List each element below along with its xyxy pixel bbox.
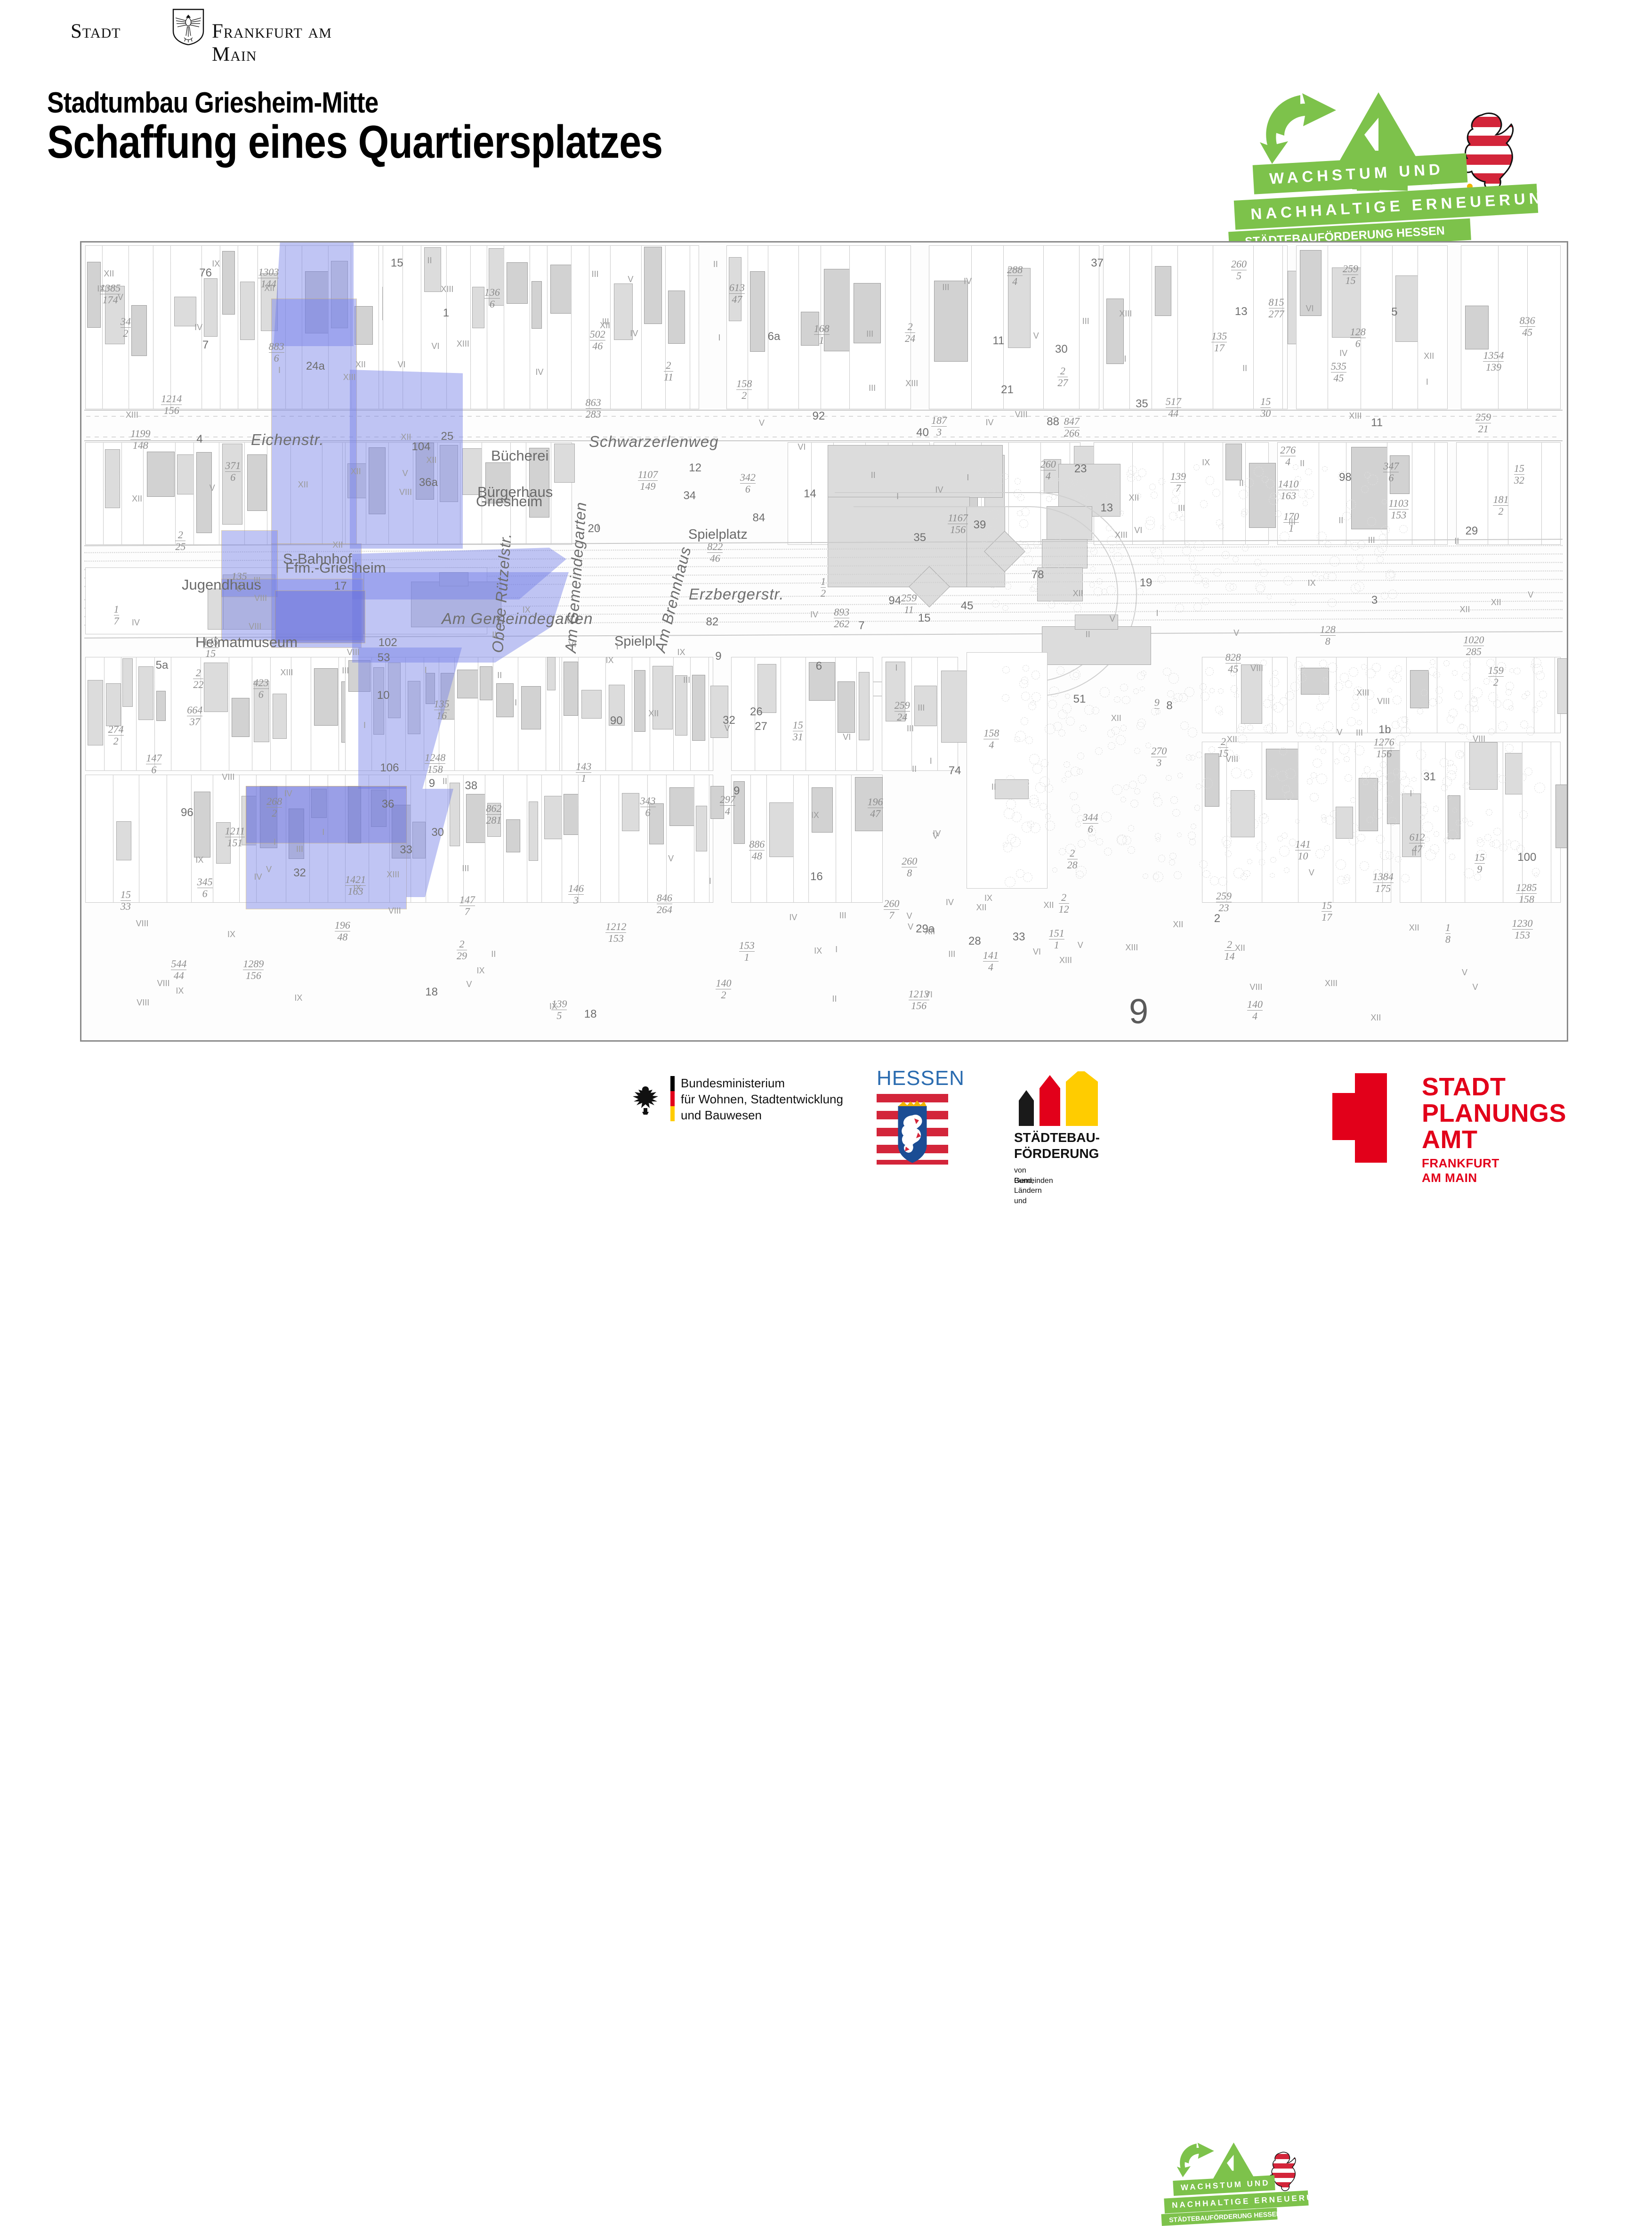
map-parcel bbox=[1541, 442, 1561, 545]
map-label: V bbox=[906, 911, 912, 921]
map-label: V bbox=[1528, 590, 1533, 600]
map-label: I bbox=[709, 876, 711, 886]
map-parcel-number: 1214156 bbox=[161, 394, 182, 416]
map-building bbox=[653, 666, 673, 729]
map-label: IX bbox=[97, 284, 105, 294]
map-tree-symbol bbox=[1128, 825, 1134, 831]
map-line bbox=[1145, 416, 1150, 417]
map-line bbox=[484, 416, 489, 417]
map-label: IX bbox=[476, 966, 484, 976]
map-tree-symbol bbox=[1388, 817, 1397, 826]
map-label: III bbox=[253, 575, 260, 585]
map-parcel-number: 862281 bbox=[486, 803, 501, 826]
map-line bbox=[213, 437, 218, 437]
map-label: I bbox=[1410, 789, 1412, 799]
map-line bbox=[561, 416, 565, 417]
map-tree-symbol bbox=[1282, 785, 1290, 793]
map-parcel-number: 1285158 bbox=[1516, 882, 1537, 905]
map-tree-symbol bbox=[1199, 860, 1208, 869]
map-tree-symbol bbox=[1230, 583, 1237, 591]
map-label: XII bbox=[1111, 713, 1121, 723]
map-tree-symbol bbox=[1143, 874, 1148, 879]
map-tree-symbol bbox=[1116, 544, 1122, 550]
map-tree-symbol bbox=[1259, 859, 1265, 865]
map-tree-symbol bbox=[1510, 841, 1519, 850]
map-line bbox=[1434, 416, 1438, 417]
map-label: IX bbox=[606, 656, 614, 665]
map-label: II bbox=[1300, 459, 1305, 469]
map-line bbox=[1493, 416, 1497, 417]
map-tree-symbol bbox=[1361, 664, 1367, 670]
map-tree-symbol bbox=[1218, 877, 1227, 886]
map-tree-symbol bbox=[1420, 802, 1426, 808]
map-label: XII bbox=[1491, 598, 1501, 607]
map-label: XII bbox=[976, 903, 986, 913]
map-parcel-number: 1533 bbox=[121, 890, 131, 912]
stadtplanungsamt-subline: FRANKFURT AM MAIN bbox=[1422, 1156, 1499, 1185]
map-label: III bbox=[296, 844, 303, 854]
map-line bbox=[730, 416, 734, 417]
map-tree-symbol bbox=[1315, 745, 1320, 750]
map-line bbox=[1239, 416, 1243, 417]
map-building bbox=[1395, 275, 1418, 341]
map-line bbox=[1323, 437, 1328, 437]
program-logo-header: WACHSTUM UND NACHHALTIGE ERNEUERUNG STÄD… bbox=[1248, 89, 1596, 231]
map-line bbox=[764, 416, 768, 417]
map-line bbox=[188, 416, 192, 417]
map-tree-symbol bbox=[1376, 835, 1385, 843]
map-label: V bbox=[628, 275, 633, 284]
map-line bbox=[1027, 437, 1031, 437]
map-tree-symbol bbox=[1059, 848, 1066, 855]
map-line bbox=[1239, 437, 1243, 437]
map-building bbox=[1555, 785, 1568, 848]
federal-eagle-icon bbox=[631, 1084, 660, 1118]
map-tree-symbol bbox=[1157, 558, 1164, 565]
map-label: III bbox=[907, 724, 914, 734]
map-label: II bbox=[443, 777, 447, 786]
map-line bbox=[120, 416, 124, 417]
map-line bbox=[840, 416, 845, 417]
map-tree-symbol bbox=[1052, 867, 1057, 873]
map-line bbox=[925, 416, 929, 417]
map-label: V bbox=[118, 292, 123, 302]
map-parcel-number: 342 bbox=[121, 316, 131, 339]
map-line bbox=[629, 416, 633, 417]
map-label: VI bbox=[843, 732, 851, 742]
map-tree-symbol bbox=[1387, 688, 1392, 693]
map-line bbox=[883, 437, 887, 437]
map-parcel-number: 1212153 bbox=[605, 922, 626, 944]
map-street-label: Am Brennhaus bbox=[651, 545, 695, 655]
map-tree-symbol bbox=[1247, 725, 1253, 730]
map-line bbox=[1518, 416, 1523, 417]
map-building bbox=[466, 794, 487, 843]
map-line bbox=[1222, 416, 1226, 417]
map-building bbox=[1557, 658, 1568, 714]
map-building bbox=[174, 297, 196, 326]
map-house-number: 30 bbox=[1055, 343, 1068, 356]
map-parcel bbox=[1412, 442, 1436, 545]
map-label: I bbox=[322, 827, 324, 837]
map-parcel bbox=[768, 245, 799, 409]
map-label: VI bbox=[925, 990, 933, 1000]
map-house-number: 102 bbox=[379, 636, 397, 649]
map-house-number: 78 bbox=[1031, 568, 1044, 582]
map-tree-symbol bbox=[1180, 721, 1189, 730]
map-line bbox=[603, 416, 607, 417]
map-tree-symbol bbox=[1040, 803, 1047, 810]
map-building bbox=[457, 670, 479, 698]
map-tree-symbol bbox=[1133, 688, 1139, 694]
map-line bbox=[518, 437, 523, 437]
map-line bbox=[1154, 437, 1158, 437]
map-label: IV bbox=[964, 276, 972, 286]
map-tree-symbol bbox=[1305, 469, 1312, 476]
map-tree-symbol bbox=[1526, 727, 1535, 735]
map-label: V bbox=[1233, 628, 1239, 638]
map-parcel-number: 66437 bbox=[187, 705, 202, 727]
map-parcel-number: 54444 bbox=[171, 959, 186, 981]
map-tree-symbol bbox=[1045, 724, 1056, 735]
map-label: II bbox=[497, 671, 502, 680]
map-parcel bbox=[85, 775, 114, 903]
map-building bbox=[138, 666, 153, 720]
map-tree-symbol bbox=[1156, 837, 1160, 842]
map-parcel-number: 1531 bbox=[793, 720, 803, 742]
map-tree-symbol bbox=[1190, 755, 1195, 761]
map-label: II bbox=[1412, 848, 1417, 858]
cadastral-map[interactable]: BüchereiBürgerhausGriesheimS-BahnhofFfm.… bbox=[80, 241, 1568, 1042]
map-line bbox=[1281, 416, 1285, 417]
map-tree-symbol bbox=[1231, 685, 1238, 693]
map-tree-symbol bbox=[1443, 660, 1450, 666]
map-tree-symbol bbox=[1049, 565, 1059, 575]
map-label: III bbox=[839, 911, 846, 921]
map-line bbox=[1171, 437, 1175, 437]
map-parcel-number: 1289156 bbox=[243, 959, 264, 981]
map-line bbox=[467, 416, 472, 417]
map-tree-symbol bbox=[1345, 774, 1352, 782]
map-building bbox=[208, 589, 224, 630]
map-tree-symbol bbox=[1402, 716, 1408, 723]
map-tree-symbol bbox=[1071, 767, 1080, 776]
map-building bbox=[424, 247, 441, 292]
map-tree-symbol bbox=[1477, 839, 1484, 847]
map-parcel-number: 2884 bbox=[1007, 265, 1023, 287]
map-label: VI bbox=[1306, 304, 1314, 314]
map-line bbox=[840, 437, 845, 437]
map-line bbox=[230, 437, 234, 437]
map-line bbox=[510, 416, 514, 417]
map-label: II bbox=[1239, 478, 1244, 488]
map-label: I bbox=[278, 365, 281, 375]
map-parcel-number: 1582 bbox=[736, 379, 752, 401]
map-line bbox=[951, 416, 955, 417]
map-building bbox=[480, 666, 492, 700]
map-house-number: 90 bbox=[610, 714, 623, 728]
map-label: VIII bbox=[222, 772, 234, 782]
map-line bbox=[891, 416, 895, 417]
map-parcel bbox=[1282, 245, 1288, 409]
map-line bbox=[493, 416, 497, 417]
map-tree-symbol bbox=[1435, 696, 1442, 704]
map-label: XII bbox=[351, 467, 361, 477]
map-building bbox=[634, 670, 645, 732]
map-building bbox=[547, 657, 556, 690]
map-tree-symbol bbox=[988, 526, 995, 534]
map-label: XIII bbox=[1125, 943, 1138, 953]
map-label: XIII bbox=[1059, 955, 1072, 965]
map-line bbox=[213, 416, 218, 417]
map-parcel-number: 8836 bbox=[269, 341, 284, 364]
map-label: VIII bbox=[249, 622, 261, 631]
map-parcel-number: 50246 bbox=[590, 329, 605, 351]
map-line bbox=[1298, 416, 1302, 417]
map-tree-symbol bbox=[1254, 467, 1264, 477]
map-label: II bbox=[1338, 516, 1343, 526]
map-house-number: 32 bbox=[293, 866, 306, 880]
map-house-number: 9 bbox=[429, 777, 435, 790]
map-label: V bbox=[1110, 614, 1115, 624]
map-parcel bbox=[1418, 245, 1448, 409]
map-line bbox=[264, 416, 268, 417]
map-tree-symbol bbox=[1270, 873, 1275, 878]
map-label: IX bbox=[677, 648, 685, 657]
map-house-number: 21 bbox=[1001, 383, 1014, 397]
map-line bbox=[179, 437, 184, 437]
map-label: VI bbox=[798, 442, 806, 452]
map-parcel-number: 2604 bbox=[1040, 459, 1056, 481]
map-tree-symbol bbox=[1356, 555, 1363, 562]
map-tree-symbol bbox=[1158, 855, 1165, 862]
map-tree-symbol bbox=[1167, 690, 1175, 698]
map-line bbox=[1366, 437, 1370, 437]
map-house-number: 36 bbox=[382, 798, 395, 811]
map-line bbox=[1501, 437, 1506, 437]
map-tree-symbol bbox=[1233, 556, 1239, 563]
map-line bbox=[1298, 437, 1302, 437]
map-parcel-number: 12 bbox=[821, 576, 826, 599]
map-label: IV bbox=[535, 367, 543, 377]
map-tree-symbol bbox=[990, 510, 999, 519]
map-tree-symbol bbox=[1514, 668, 1521, 675]
map-house-number: 8 bbox=[1166, 699, 1172, 712]
map-label: I bbox=[896, 492, 899, 502]
map-line bbox=[654, 416, 658, 417]
map-tree-symbol bbox=[1267, 594, 1272, 599]
map-tree-symbol bbox=[1222, 551, 1230, 559]
map-parcel-number: 1397 bbox=[1170, 471, 1186, 494]
map-label: IX bbox=[1308, 578, 1316, 588]
map-parcel bbox=[1522, 742, 1552, 903]
map-line bbox=[86, 416, 90, 417]
map-line bbox=[501, 437, 506, 437]
map-line bbox=[1112, 437, 1116, 437]
map-label: XII bbox=[1409, 923, 1419, 933]
map-parcel-number: 1286 bbox=[1350, 327, 1366, 349]
map-tree-symbol bbox=[1078, 840, 1086, 848]
map-line bbox=[781, 437, 785, 437]
map-tree-symbol bbox=[1200, 500, 1208, 508]
map-tree-symbol bbox=[1106, 586, 1115, 595]
map-parcel-number: 18 bbox=[1445, 923, 1451, 945]
map-house-number: 31 bbox=[1423, 770, 1436, 784]
map-parcel-number: 1681 bbox=[814, 324, 830, 346]
map-label: I bbox=[718, 333, 721, 343]
map-line bbox=[1120, 437, 1124, 437]
map-tree-symbol bbox=[1032, 764, 1042, 774]
map-tree-symbol bbox=[1179, 693, 1188, 702]
map-tree-symbol bbox=[1213, 568, 1221, 576]
map-tree-symbol bbox=[1212, 489, 1220, 497]
map-label: IX bbox=[1202, 458, 1210, 468]
map-parcel-number: 227 bbox=[1057, 366, 1068, 388]
map-tree-symbol bbox=[1072, 804, 1080, 813]
map-parcel-number: 212 bbox=[1059, 892, 1069, 915]
map-house-number: 4 bbox=[196, 433, 202, 446]
map-line bbox=[1196, 416, 1201, 417]
german-flag-bar-red bbox=[670, 1091, 675, 1106]
map-street-label: Erzbergerstr. bbox=[689, 585, 784, 603]
map-building bbox=[750, 271, 765, 352]
map-label: VIII bbox=[1250, 664, 1263, 673]
map-building bbox=[106, 683, 121, 726]
map-label: VI bbox=[1033, 947, 1041, 957]
map-label: I bbox=[1124, 354, 1126, 364]
map-label: XII bbox=[264, 283, 274, 293]
map-label: V bbox=[1078, 940, 1083, 950]
map-tree-symbol bbox=[1330, 556, 1340, 567]
map-tree-symbol bbox=[1048, 700, 1057, 709]
map-parcel-number: 82845 bbox=[1225, 652, 1241, 674]
map-tree-symbol bbox=[1086, 543, 1096, 552]
map-line bbox=[1451, 416, 1455, 417]
map-label: V bbox=[725, 723, 730, 733]
map-tree-symbol bbox=[1536, 701, 1542, 707]
map-tree-symbol bbox=[1242, 544, 1249, 551]
map-parcel bbox=[167, 775, 192, 903]
map-line bbox=[773, 416, 777, 417]
map-tree-symbol bbox=[1484, 834, 1491, 841]
map-tree-symbol bbox=[1152, 548, 1162, 559]
map-line bbox=[747, 416, 751, 417]
map-label: XIII bbox=[387, 870, 399, 880]
map-parcel bbox=[291, 657, 312, 771]
map-house-number: 104 bbox=[411, 440, 430, 453]
map-line bbox=[976, 416, 980, 417]
map-line bbox=[637, 416, 641, 417]
map-building bbox=[1106, 299, 1124, 364]
map-tree-symbol bbox=[1447, 715, 1454, 723]
map-label: V bbox=[566, 616, 572, 626]
map-tree-symbol bbox=[1287, 720, 1294, 727]
map-tree-symbol bbox=[1324, 845, 1330, 851]
map-tree-symbol bbox=[1146, 517, 1154, 525]
map-house-number: 16 bbox=[810, 870, 823, 883]
map-line bbox=[917, 416, 921, 417]
map-label: XII bbox=[1424, 351, 1434, 361]
map-street-label: Schwarzerlenweg bbox=[589, 433, 718, 451]
map-parcel bbox=[971, 245, 1004, 409]
map-line bbox=[1323, 416, 1328, 417]
map-line bbox=[1442, 437, 1446, 437]
map-tree-symbol bbox=[1056, 666, 1065, 675]
map-line bbox=[510, 437, 514, 437]
map-label: VI bbox=[432, 341, 440, 351]
map-line bbox=[1120, 416, 1124, 417]
map-parcel-number: 25915 bbox=[1343, 264, 1358, 286]
map-parcel bbox=[1319, 442, 1347, 545]
map-line bbox=[1442, 416, 1446, 417]
map-parcel-number: 1410163 bbox=[1278, 479, 1299, 501]
map-tree-symbol bbox=[1196, 784, 1201, 789]
map-line bbox=[230, 416, 234, 417]
map-building bbox=[156, 691, 166, 721]
map-parcel bbox=[1177, 245, 1214, 409]
map-line bbox=[1552, 437, 1556, 437]
map-building bbox=[828, 445, 1003, 498]
map-house-number: 39 bbox=[974, 518, 986, 532]
map-tree-symbol bbox=[1499, 844, 1507, 852]
map-parcel-number: 211 bbox=[664, 360, 673, 382]
map-tree-symbol bbox=[1021, 717, 1029, 725]
map-line bbox=[849, 437, 853, 437]
map-line bbox=[1196, 437, 1201, 437]
map-tree-symbol bbox=[1342, 512, 1351, 520]
map-line bbox=[1103, 437, 1107, 437]
map-parcel-number: 3436 bbox=[640, 796, 656, 818]
map-line bbox=[1001, 437, 1006, 437]
map-label: XII bbox=[298, 480, 308, 490]
map-line bbox=[976, 437, 980, 437]
map-tree-symbol bbox=[1315, 849, 1325, 858]
map-tree-symbol bbox=[1096, 578, 1102, 584]
map-label: IX bbox=[811, 810, 819, 820]
map-tree-symbol bbox=[979, 533, 989, 542]
map-line bbox=[1306, 416, 1311, 417]
map-tree-symbol bbox=[1075, 822, 1081, 827]
map-tree-symbol bbox=[1189, 839, 1196, 845]
map-label: III bbox=[942, 283, 949, 292]
map-parcel bbox=[781, 657, 806, 771]
map-line bbox=[790, 437, 794, 437]
map-parcel-number: 1477 bbox=[459, 895, 475, 917]
map-line bbox=[1476, 437, 1480, 437]
map-line bbox=[1018, 437, 1023, 437]
map-tree-symbol bbox=[1118, 510, 1124, 516]
map-tree-symbol bbox=[1307, 731, 1314, 738]
map-line bbox=[578, 437, 582, 437]
map-tree-symbol bbox=[1373, 809, 1383, 819]
map-line bbox=[569, 437, 573, 437]
map-tree-symbol bbox=[1041, 759, 1049, 767]
map-line bbox=[959, 416, 963, 417]
map-tree-symbol bbox=[1025, 737, 1033, 744]
map-parcel-number: 229 bbox=[457, 939, 467, 961]
map-house-number: 88 bbox=[1047, 415, 1059, 429]
map-label: III bbox=[918, 703, 925, 713]
map-building bbox=[273, 694, 287, 739]
map-tree-symbol bbox=[1218, 688, 1223, 694]
map-tree-symbol bbox=[1134, 748, 1140, 754]
map-tree-symbol bbox=[1233, 868, 1244, 878]
map-line bbox=[1306, 437, 1311, 437]
map-building bbox=[769, 802, 794, 857]
map-building bbox=[314, 668, 338, 726]
map-parcel-number: 847266 bbox=[1064, 416, 1080, 438]
map-parcel-number: 1020285 bbox=[1463, 635, 1484, 657]
